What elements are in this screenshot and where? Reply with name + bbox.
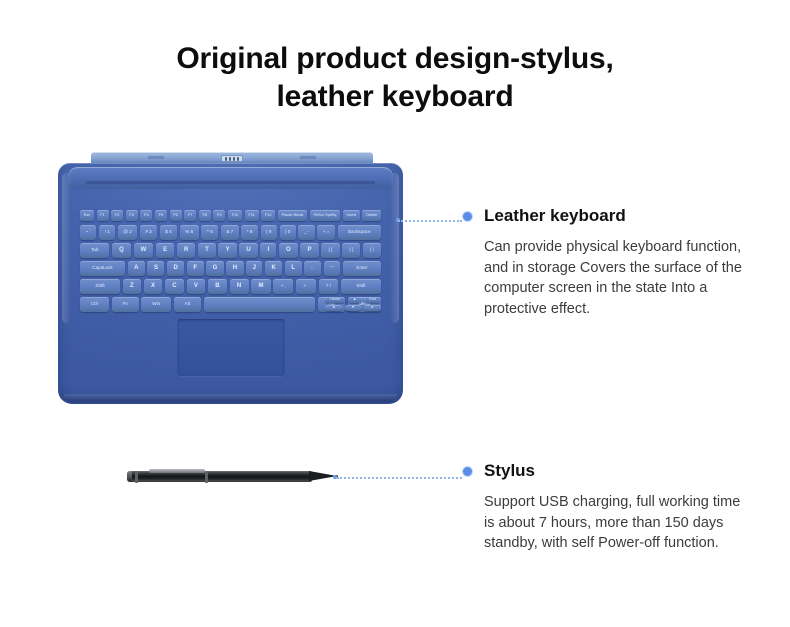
bullet-dot-icon [463, 212, 472, 221]
key-g: G [206, 261, 224, 276]
key-minus: _ - [298, 225, 314, 240]
key-x: X [144, 279, 163, 294]
hinge-notch-right [300, 156, 316, 159]
key-n: N [230, 279, 249, 294]
key-arrow-right: ► [364, 305, 381, 312]
key-backspace: Backspace [338, 225, 381, 240]
key-f7: F7 [184, 210, 196, 221]
feature-heading-keyboard: Leather keyboard [484, 206, 626, 225]
keyboard-row-number: ~ ` ! 1 @ 2 # 3 $ 4 % 5 ^ 6 & 7 * 8 ( 9 … [80, 225, 381, 240]
key-bracket-right: } ] [342, 243, 360, 258]
key-f6: F6 [170, 210, 182, 221]
key-delete: Delete [362, 210, 381, 221]
feature-body-line: protective effect. [484, 299, 780, 320]
key-arrow-left: ◄ [325, 305, 342, 312]
feature-body-keyboard: Can provide physical keyboard function, … [460, 237, 780, 319]
keyboard-row-modifier: Ctrl Fn Win Alt Alt Menu Home ▲ End ◄ ▼ [80, 297, 381, 312]
key-m: M [251, 279, 271, 294]
key-j: J [246, 261, 262, 276]
key-q: Q [112, 243, 131, 258]
keyboard-row-top: Tab Q W E R T Y U I O P { [ } ] | \ [80, 243, 381, 258]
key-9: ( 9 [261, 225, 277, 240]
keyboard-row-home: CapsLock A S D F G H J K L : ; " ' Enter [80, 261, 381, 276]
key-c: C [165, 279, 184, 294]
magnetic-connector-pins [221, 155, 243, 162]
key-f3: F3 [126, 210, 138, 221]
key-f2: F2 [111, 210, 123, 221]
stylus-cap-end [127, 471, 132, 482]
key-3: # 3 [140, 225, 157, 240]
key-equals: + = [317, 225, 335, 240]
feature-body-stylus: Support USB charging, full working time … [460, 492, 780, 554]
key-backtick: ~ ` [80, 225, 96, 240]
key-tab: Tab [80, 243, 109, 258]
key-k: K [265, 261, 282, 276]
key-f5: F5 [155, 210, 167, 221]
feature-body-line: computer screen in the state Into a [484, 278, 780, 299]
key-arrow-up: ▲ [348, 297, 362, 304]
key-capslock: CapsLock [80, 261, 125, 276]
keyboard-body: Esc F1 F2 F3 F4 F5 F6 F7 F8 F9 F10 F11 F… [58, 163, 403, 404]
feature-body-line: Can provide physical keyboard function, [484, 237, 780, 258]
key-f1: F1 [97, 210, 109, 221]
leader-line-stylus [337, 477, 462, 480]
feature-body-line: is about 7 hours, more than 150 days [484, 513, 780, 534]
feature-body-line: and in storage Covers the surface of the [484, 258, 780, 279]
page-title: Original product design-stylus, leather … [0, 40, 790, 116]
key-5: % 5 [180, 225, 199, 240]
key-0: ) 0 [280, 225, 296, 240]
key-6: ^ 6 [201, 225, 218, 240]
bullet-dot-icon [463, 467, 472, 476]
key-end: End [364, 297, 381, 304]
key-alt-left: Alt [174, 297, 201, 312]
key-h: H [226, 261, 243, 276]
key-b: B [208, 279, 227, 294]
hinge-notch-left [148, 156, 164, 159]
keyboard-trackpad [177, 319, 284, 376]
keyboard-product-image: Esc F1 F2 F3 F4 F5 F6 F7 F8 F9 F10 F11 F… [58, 152, 403, 404]
key-semicolon: : ; [304, 261, 321, 276]
key-i: I [260, 243, 276, 258]
key-shift-right: Shift [341, 279, 381, 294]
key-l: L [285, 261, 302, 276]
key-space [204, 297, 316, 312]
key-comma: < , [273, 279, 293, 294]
keyboard-row-bottom: Shift Z X C V B N M < , > . ? / Shift [80, 279, 381, 294]
keyboard-left-edge [62, 173, 71, 323]
keyboard-row-function: Esc F1 F2 F3 F4 F5 F6 F7 F8 F9 F10 F11 F… [80, 210, 381, 221]
stylus-barrel [127, 471, 312, 482]
key-windows: Win [141, 297, 171, 312]
key-pause-break: Pause Break [278, 210, 307, 221]
key-enter: Enter [343, 261, 381, 276]
stylus-ring-rear [135, 471, 138, 483]
keyboard-right-edge [390, 173, 399, 323]
key-e: E [156, 243, 174, 258]
key-d: D [167, 261, 184, 276]
key-arrow-down: ▼ [345, 305, 362, 312]
feature-heading-stylus: Stylus [484, 461, 535, 480]
feature-body-line: standby, with self Power-off function. [484, 533, 780, 554]
key-o: O [279, 243, 298, 258]
key-slash: ? / [319, 279, 339, 294]
key-p: P [300, 243, 318, 258]
feature-heading-row: Stylus [460, 461, 780, 481]
key-print-screen: PrtScr SysRq [310, 210, 340, 221]
key-1: ! 1 [99, 225, 115, 240]
key-f4: F4 [140, 210, 152, 221]
key-w: W [134, 243, 154, 258]
key-quote: " ' [324, 261, 341, 276]
feature-block-stylus: Stylus Support USB charging, full workin… [460, 461, 780, 554]
key-home: Home [325, 297, 345, 304]
key-ctrl: Ctrl [80, 297, 109, 312]
key-s: S [147, 261, 164, 276]
key-2: @ 2 [118, 225, 137, 240]
keyboard-upper-lip [68, 167, 393, 189]
keyboard-arrow-cluster: Home ▲ End ◄ ▼ ► [325, 297, 381, 312]
key-t: T [198, 243, 216, 258]
key-4: $ 4 [160, 225, 177, 240]
key-y: Y [218, 243, 236, 258]
key-z: Z [123, 279, 141, 294]
key-shift-left: Shift [80, 279, 120, 294]
keyboard-bottom-edge [64, 394, 397, 402]
feature-heading-row: Leather keyboard [460, 206, 780, 226]
key-8: * 8 [241, 225, 258, 240]
stylus-clip [149, 469, 205, 473]
key-7: & 7 [221, 225, 239, 240]
key-insert: Insert [343, 210, 360, 221]
leader-line-keyboard [398, 220, 462, 223]
key-f8: F8 [199, 210, 211, 221]
stylus-product-image [127, 464, 337, 490]
feature-block-leather-keyboard: Leather keyboard Can provide physical ke… [460, 206, 780, 319]
key-a: A [128, 261, 145, 276]
keyboard-fold-crease [86, 181, 375, 184]
key-backslash: | \ [363, 243, 381, 258]
key-f12: F12 [261, 210, 275, 221]
key-f11: F11 [245, 210, 259, 221]
key-f: F [187, 261, 204, 276]
key-period: > . [296, 279, 316, 294]
key-fn: Fn [112, 297, 139, 312]
stylus-ring-front [205, 471, 208, 483]
feature-body-line: Support USB charging, full working time [484, 492, 780, 513]
key-f10: F10 [228, 210, 242, 221]
key-u: U [239, 243, 258, 258]
key-f9: F9 [213, 210, 225, 221]
page-title-line-2: leather keyboard [0, 78, 790, 116]
key-r: R [177, 243, 196, 258]
key-bracket-left: { [ [321, 243, 339, 258]
key-v: V [187, 279, 206, 294]
page-title-line-1: Original product design-stylus, [0, 40, 790, 78]
key-esc: Esc [80, 210, 94, 221]
keyboard-key-matrix: Esc F1 F2 F3 F4 F5 F6 F7 F8 F9 F10 F11 F… [80, 210, 381, 315]
